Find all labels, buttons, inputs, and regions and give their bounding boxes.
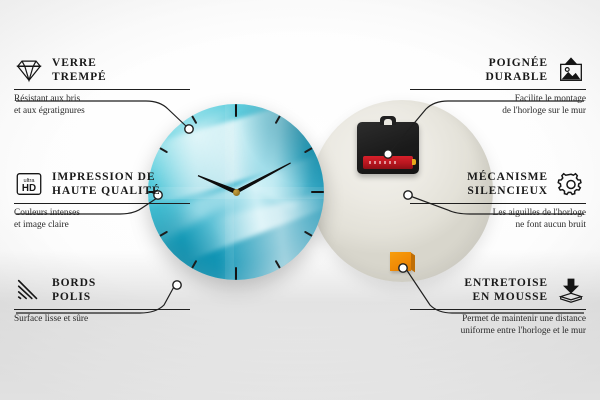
clock-tick bbox=[235, 192, 237, 280]
divider bbox=[14, 309, 190, 310]
picture-hanger-icon bbox=[556, 56, 586, 84]
feature-entretoise-en-mousse: ENTRETOISE EN MOUSSE Permet de maintenir… bbox=[410, 276, 586, 337]
feature-title-line1: VERRE bbox=[52, 57, 97, 69]
divider bbox=[410, 203, 586, 204]
battery bbox=[363, 156, 413, 169]
battery-label bbox=[369, 161, 399, 164]
ultra-hd-icon-bottom: HD bbox=[22, 183, 36, 194]
feature-title-line1: POIGNÉE bbox=[489, 57, 548, 69]
clock-mechanism bbox=[357, 122, 419, 174]
feature-bords-polis: BORDS POLIS Surface lisse et sûre bbox=[14, 276, 190, 326]
feature-desc-line1: Résistant aux bris bbox=[14, 94, 80, 104]
feature-desc-line1: Couleurs intenses bbox=[14, 208, 80, 218]
divider bbox=[410, 89, 586, 90]
feature-title-line2: TREMPÉ bbox=[52, 71, 107, 83]
clock-tick bbox=[236, 191, 324, 193]
feature-title-line1: BORDS bbox=[52, 277, 96, 289]
feature-desc-line2: et aux égratignures bbox=[14, 106, 85, 116]
feature-mecanisme-silencieux: MÉCANISME SILENCIEUX Les aiguilles de l'… bbox=[410, 170, 586, 231]
feature-title-line1: MÉCANISME bbox=[467, 171, 548, 183]
feature-impression-haute-qualite: ultra HD IMPRESSION DE HAUTE QUALITÉ Cou… bbox=[14, 170, 190, 231]
foam-spacer-icon bbox=[556, 276, 586, 304]
gear-icon bbox=[556, 170, 586, 198]
divider bbox=[14, 89, 190, 90]
feature-desc-line2: ne font aucun bruit bbox=[516, 220, 586, 230]
hand-cap bbox=[233, 189, 240, 196]
feature-desc-line1: Surface lisse et sûre bbox=[14, 314, 88, 324]
feature-title-line2: EN MOUSSE bbox=[472, 291, 548, 303]
ultra-hd-icon: ultra HD bbox=[14, 170, 44, 198]
divider bbox=[410, 309, 586, 310]
feature-title-line2: SILENCIEUX bbox=[467, 185, 548, 197]
clock-tick bbox=[235, 104, 237, 192]
divider bbox=[14, 203, 190, 204]
feature-desc-line1: Facilite le montage bbox=[515, 94, 586, 104]
infographic-canvas: VERRE TREMPÉ Résistant aux bris et aux é… bbox=[0, 0, 600, 400]
feature-verre-trempe: VERRE TREMPÉ Résistant aux bris et aux é… bbox=[14, 56, 190, 117]
feature-desc-line2: uniforme entre l'horloge et le mur bbox=[461, 326, 586, 336]
feature-title-line1: ENTRETOISE bbox=[464, 277, 548, 289]
feature-title-line1: IMPRESSION DE bbox=[52, 171, 155, 183]
feature-poignee-durable: POIGNÉE DURABLE Facilite le montage de l… bbox=[410, 56, 586, 117]
feature-title-line2: HAUTE QUALITÉ bbox=[52, 185, 161, 197]
hanger-tab bbox=[380, 116, 396, 125]
foam-spacer bbox=[390, 252, 411, 271]
feature-desc-line1: Permet de maintenir une distance bbox=[462, 314, 586, 324]
feature-title-line2: POLIS bbox=[52, 291, 91, 303]
feature-desc-line2: de l'horloge sur le mur bbox=[502, 106, 586, 116]
polished-edges-icon bbox=[14, 276, 44, 304]
feature-title-line2: DURABLE bbox=[485, 71, 548, 83]
diamond-icon bbox=[14, 56, 44, 84]
feature-desc-line2: et image claire bbox=[14, 220, 69, 230]
feature-desc-line1: Les aiguilles de l'horloge bbox=[493, 208, 586, 218]
